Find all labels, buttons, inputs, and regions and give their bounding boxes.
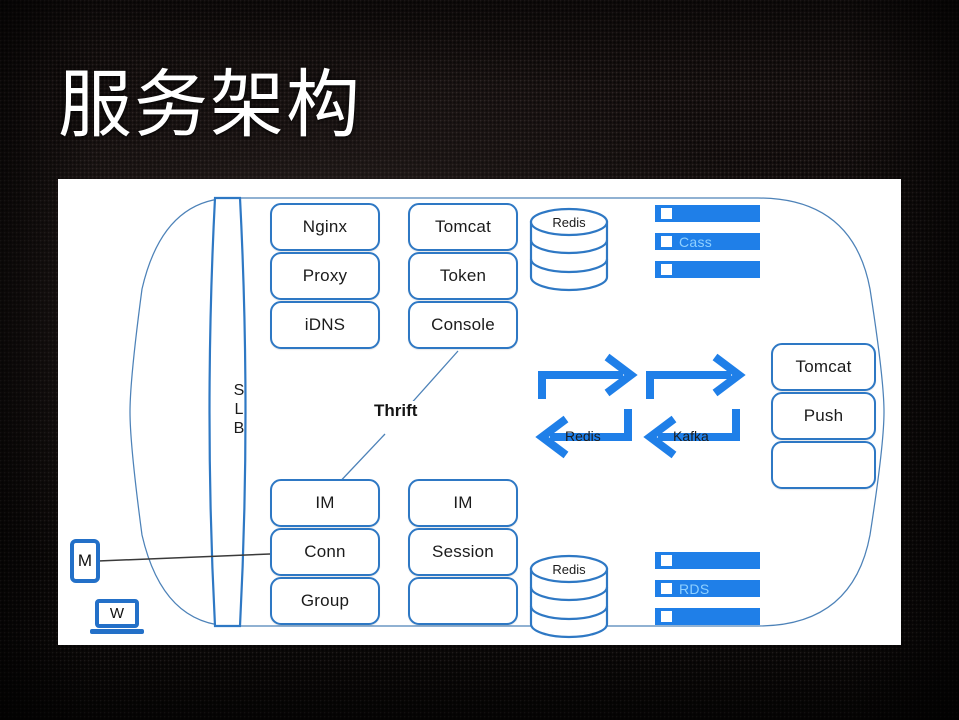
architecture-diagram-panel: S L B Thrift Nginx Proxy iDNS Tomcat Tok… (58, 179, 901, 645)
storage-bar-cass[interactable]: Cass (655, 233, 760, 250)
storage-chip-icon (661, 555, 672, 566)
storage-bar-top-1[interactable] (655, 205, 760, 222)
service-box-proxy[interactable]: Proxy (270, 252, 380, 300)
slb-label-line-3: B (226, 419, 252, 438)
slb-label: S L B (226, 381, 252, 438)
service-box-push[interactable]: Push (771, 392, 876, 440)
service-box-group[interactable]: Group (270, 577, 380, 625)
redis-label-bottom: Redis (533, 562, 605, 577)
service-box-im-conn[interactable]: IM (270, 479, 380, 527)
storage-bar-top-3[interactable] (655, 261, 760, 278)
service-box-conn[interactable]: Conn (270, 528, 380, 576)
thrift-label: Thrift (372, 401, 419, 421)
storage-bar-rds-label: RDS (679, 581, 709, 597)
storage-chip-icon (661, 264, 672, 275)
storage-chip-icon (661, 583, 672, 594)
storage-bar-cass-label: Cass (679, 234, 712, 250)
service-box-nginx[interactable]: Nginx (270, 203, 380, 251)
slb-label-line-2: L (226, 400, 252, 419)
storage-chip-icon (661, 236, 672, 247)
laptop-screen: W (95, 599, 139, 628)
laptop-base (90, 629, 144, 634)
thrift-link-upper (408, 351, 458, 407)
storage-bar-bottom-1[interactable] (655, 552, 760, 569)
mobile-client-label: M (78, 551, 92, 571)
slide-canvas: 服务架构 (0, 0, 959, 720)
service-box-idns[interactable]: iDNS (270, 301, 380, 349)
client-link (98, 554, 270, 561)
mobile-client-icon[interactable]: M (70, 539, 100, 583)
service-box-im-session[interactable]: IM (408, 479, 518, 527)
web-client-label: W (110, 605, 124, 622)
service-box-session[interactable]: Session (408, 528, 518, 576)
redis-label-top: Redis (533, 215, 605, 230)
storage-chip-icon (661, 611, 672, 622)
queue-label-redis: Redis (565, 428, 601, 444)
slb-label-line-1: S (226, 381, 252, 400)
service-box-token[interactable]: Token (408, 252, 518, 300)
storage-bar-bottom-3[interactable] (655, 608, 760, 625)
service-box-push-empty[interactable] (771, 441, 876, 489)
queue-label-kafka: Kafka (673, 428, 709, 444)
service-box-tomcat-push[interactable]: Tomcat (771, 343, 876, 391)
web-client-icon[interactable]: W (90, 599, 144, 637)
service-box-console[interactable]: Console (408, 301, 518, 349)
storage-bar-rds[interactable]: RDS (655, 580, 760, 597)
storage-chip-icon (661, 208, 672, 219)
service-box-tomcat-web[interactable]: Tomcat (408, 203, 518, 251)
service-box-session-empty[interactable] (408, 577, 518, 625)
page-title: 服务架构 (58, 62, 362, 148)
